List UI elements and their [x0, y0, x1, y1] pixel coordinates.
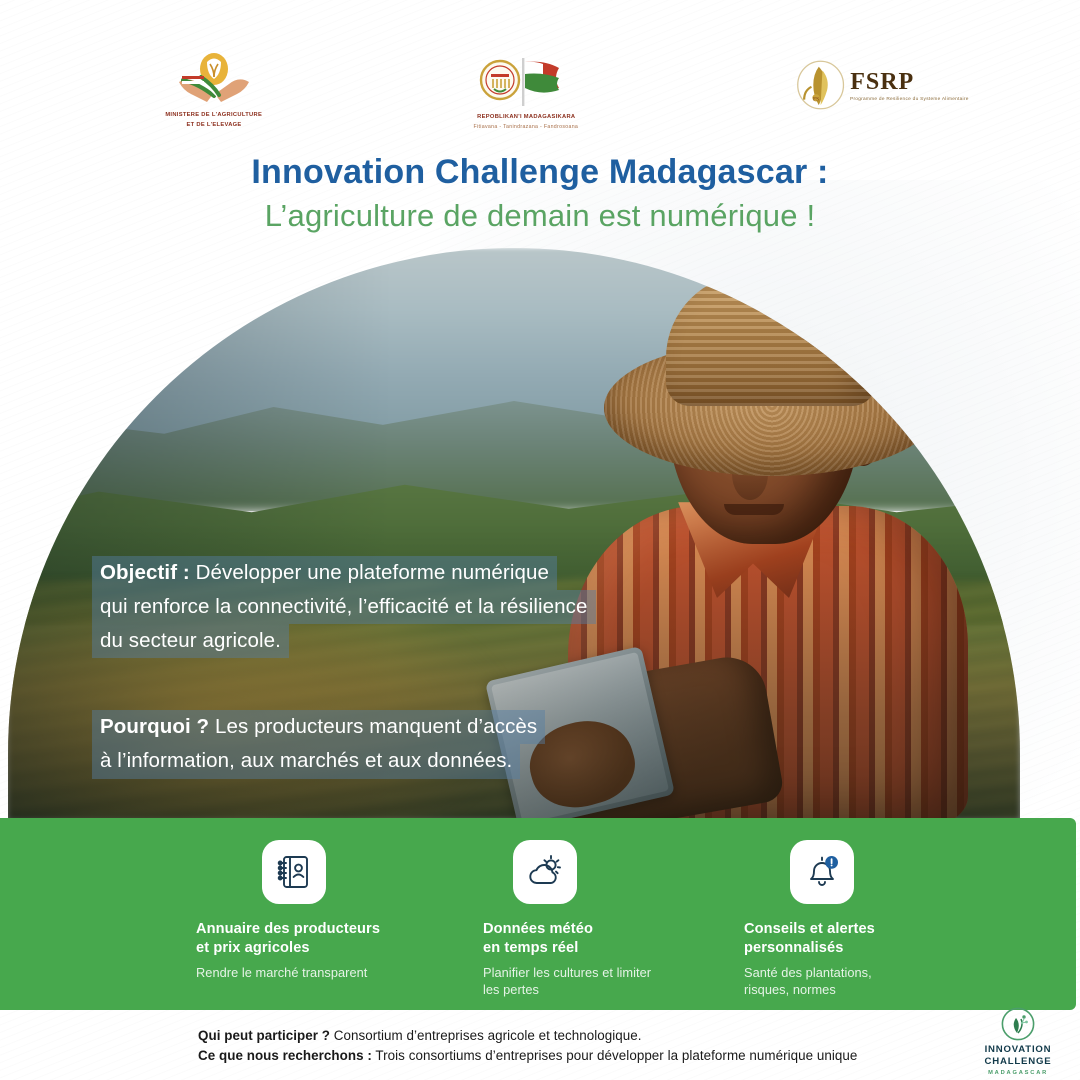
overlay-objectif-line-3: du secteur agricole. [92, 624, 289, 658]
feature-title-weather-2: en temps réel [483, 939, 733, 958]
innovation-challenge-line-3: MADAGASCAR [988, 1069, 1048, 1076]
ministry-emblem-icon [177, 52, 251, 108]
feature-sub-alerts-1: Santé des plantations, [744, 964, 994, 981]
bell-alert-icon [790, 840, 854, 904]
ministry-caption-line2: ET DE L'ELEVAGE [186, 121, 241, 130]
feature-title-directory-2: et prix agricoles [196, 939, 446, 958]
svg-text:FS: FS [813, 97, 819, 103]
innovation-challenge-line-1: INNOVATION [985, 1044, 1052, 1055]
footer-line-2: Ce que nous recherchons : Trois consorti… [198, 1046, 968, 1066]
title-line-2: L’agriculture de demain est numérique ! [0, 196, 1080, 236]
footer-text: Qui peut participer ? Consortium d’entre… [198, 1026, 968, 1067]
overlay-pourquoi-line-2: à l’information, aux marchés et aux donn… [92, 744, 520, 778]
overlay-objectif-line-2: qui renforce la connectivité, l’efficaci… [92, 590, 596, 624]
sun-cloud-icon [513, 840, 577, 904]
footer-line-2-rest: Trois consortiums d’entreprises pour dév… [372, 1048, 858, 1063]
fsrp-tagline: Programme de Resilience du Systeme Alime… [850, 96, 969, 102]
logo-bar: MINISTERE DE L'AGRICULTURE ET DE L'ELEVA… [0, 24, 1080, 119]
fsrp-emblem-icon: FS [795, 57, 846, 113]
feature-card-weather[interactable]: Données météo en temps réel Planifier le… [483, 840, 733, 998]
republic-caption-line1: REPOBLIKAN'I MADAGASIKARA [477, 113, 575, 122]
footer-line-2-lead: Ce que nous recherchons : [198, 1048, 372, 1063]
overlay-block-objectif: Objectif : Développer une plateforme num… [92, 556, 732, 658]
fsrp-logo: FS FSRP Programme de Resilience du Syste… [795, 56, 935, 114]
overlay-objectif-rest-1: Développer une plateforme numérique [190, 561, 549, 584]
poster-title: Innovation Challenge Madagascar : L’agri… [0, 152, 1080, 236]
innovation-challenge-line-2: CHALLENGE [985, 1056, 1052, 1067]
features-green-band: Annuaire des producteurs et prix agricol… [0, 818, 1076, 1010]
feature-card-alerts[interactable]: Conseils et alertes personnalisés Santé … [744, 840, 994, 998]
title-line-1: Innovation Challenge Madagascar : [0, 152, 1080, 192]
feature-sub-directory-1: Rendre le marché transparent [196, 964, 446, 981]
feature-sub-weather-2: les pertes [483, 981, 733, 998]
overlay-objectif-line-1: Objectif : Développer une plateforme num… [92, 556, 557, 590]
feature-sub-weather-1: Planifier les cultures et limiter [483, 964, 733, 981]
republic-madagascar-logo: REPOBLIKAN'I MADAGASIKARA Fitiavana - Ta… [452, 54, 600, 129]
footer-line-1-rest: Consortium d’entreprises agricole et tec… [330, 1028, 642, 1043]
feature-title-alerts-2: personnalisés [744, 939, 994, 958]
footer-line-1-lead: Qui peut participer ? [198, 1028, 330, 1043]
fsrp-wordmark: FSRP [850, 70, 935, 94]
overlay-pourquoi-line-1: Pourquoi ? Les producteurs manquent d’ac… [92, 710, 545, 744]
feature-title-directory-1: Annuaire des producteurs [196, 920, 446, 939]
address-book-icon [262, 840, 326, 904]
ministry-agriculture-logo: MINISTERE DE L'AGRICULTURE ET DE L'ELEVA… [160, 52, 268, 128]
republic-emblem-icon [467, 54, 585, 110]
feature-title-weather-1: Données météo [483, 920, 733, 939]
overlay-text-group: Objectif : Développer une plateforme num… [92, 556, 732, 831]
feature-cards: Annuaire des producteurs et prix agricol… [0, 818, 1076, 1010]
feature-sub-alerts-2: risques, normes [744, 981, 994, 998]
republic-caption-line2: Fitiavana - Tanindrazana - Fandrosoana [474, 123, 579, 131]
overlay-block-pourquoi: Pourquoi ? Les producteurs manquent d’ac… [92, 710, 732, 778]
overlay-objectif-lead: Objectif : [100, 561, 190, 584]
innovation-challenge-mark-icon [1001, 1007, 1035, 1041]
ministry-caption-line1: MINISTERE DE L'AGRICULTURE [166, 111, 263, 120]
overlay-pourquoi-rest-1: Les producteurs manquent d’accès [209, 715, 537, 738]
overlay-pourquoi-lead: Pourquoi ? [100, 715, 209, 738]
footer-line-1: Qui peut participer ? Consortium d’entre… [198, 1026, 968, 1046]
feature-card-directory[interactable]: Annuaire des producteurs et prix agricol… [196, 840, 446, 981]
poster-root: MINISTERE DE L'AGRICULTURE ET DE L'ELEVA… [0, 0, 1080, 1080]
innovation-challenge-logo: INNOVATION CHALLENGE MADAGASCAR [972, 1007, 1064, 1074]
feature-title-alerts-1: Conseils et alertes [744, 920, 994, 939]
